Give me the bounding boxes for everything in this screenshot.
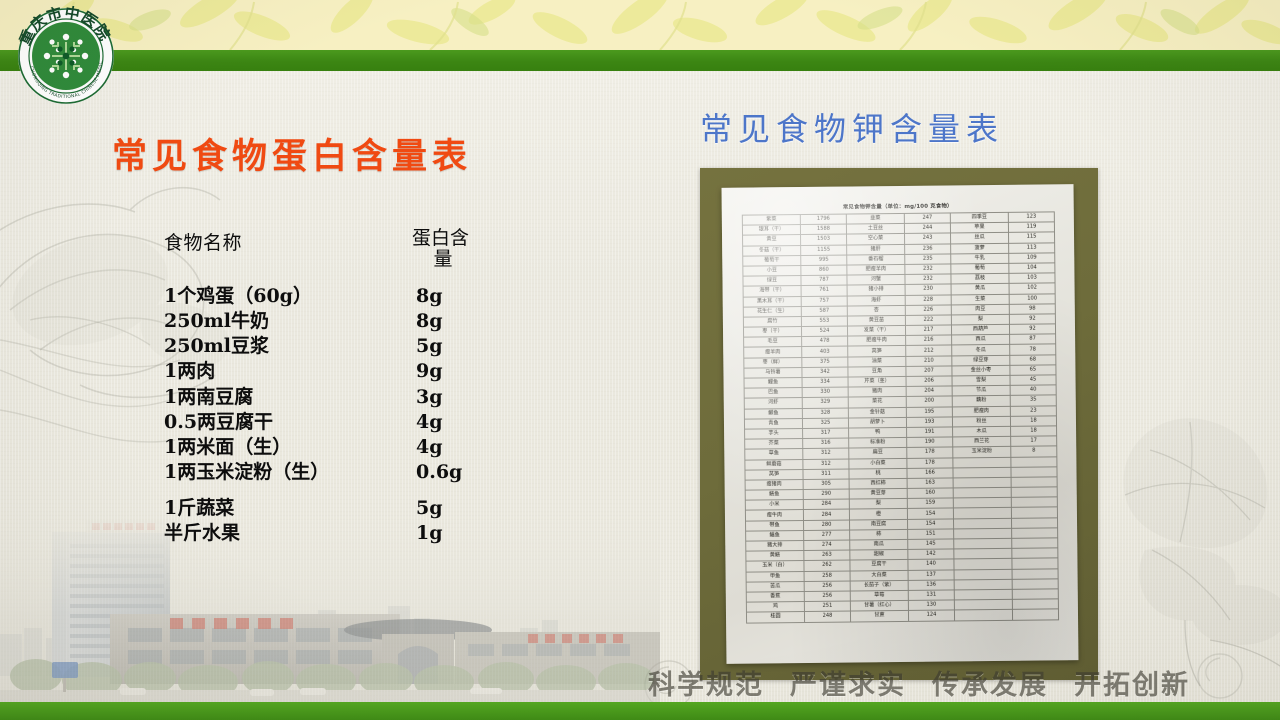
potassium-value: 119 [1008, 222, 1054, 233]
protein-row-value: 1g [416, 521, 486, 546]
potassium-value: 160 [907, 488, 953, 499]
protein-row: 1斤蔬菜5g [164, 496, 494, 521]
potassium-food-name: 草鱼 [745, 449, 803, 460]
potassium-food-name [954, 528, 1012, 539]
potassium-value: 140 [908, 559, 954, 570]
protein-row-value: 8g [416, 284, 486, 309]
potassium-value: 280 [804, 520, 850, 531]
potassium-value: 1503 [801, 234, 847, 245]
potassium-food-name: 南瓜 [850, 539, 908, 550]
potassium-value: 207 [906, 366, 952, 377]
potassium-food-name: 长茄子（紫） [850, 580, 908, 591]
potassium-food-name: 肥瘦肉 [952, 406, 1010, 417]
ink-wash-cabbage-right [1090, 390, 1280, 690]
potassium-value: 228 [905, 294, 951, 305]
potassium-value: 226 [905, 305, 951, 316]
potassium-value: 45 [1010, 375, 1056, 386]
potassium-value: 243 [905, 233, 951, 244]
potassium-value: 403 [802, 346, 848, 357]
potassium-value: 587 [801, 306, 847, 317]
potassium-value: 761 [801, 285, 847, 296]
potassium-food-name: 猪肝 [847, 244, 905, 255]
potassium-value: 191 [907, 427, 953, 438]
potassium-food-name: 绿豆 [743, 276, 801, 287]
potassium-value [1012, 548, 1058, 559]
potassium-value: 263 [804, 550, 850, 561]
potassium-food-name [953, 487, 1011, 498]
potassium-value: 232 [905, 274, 951, 285]
potassium-food-name: 玉米（白） [746, 561, 804, 572]
protein-row-value: 3g [416, 385, 486, 410]
potassium-food-name: 苹果 [950, 223, 1008, 234]
potassium-food-name [953, 467, 1011, 478]
potassium-food-name: 青鱼 [744, 418, 802, 429]
protein-row-name: 1两南豆腐 [164, 385, 416, 410]
potassium-food-name: 韭菜 [846, 213, 904, 224]
potassium-value: 195 [906, 407, 952, 418]
protein-row-name: 1两米面（生） [164, 435, 416, 460]
protein-row: 1两肉9g [164, 359, 494, 384]
slide-header [0, 0, 1280, 50]
potassium-value: 258 [804, 571, 850, 582]
potassium-food-name: 瘦牛肉 [745, 510, 803, 521]
potassium-food-name: 甘薯（红心） [850, 601, 908, 612]
potassium-value: 193 [906, 417, 952, 428]
potassium-food-name: 枣（干） [743, 327, 801, 338]
chongqing-tcm-hospital-logo-icon: 重庆市中医院 CHONGQING TRADITIONAL CHINESE MED… [14, 6, 118, 106]
protein-row: 1个鸡蛋（60g）8g [164, 284, 494, 309]
protein-row-name: 1两肉 [164, 359, 416, 384]
potassium-food-name: 毛豆 [744, 337, 802, 348]
potassium-food-name: 南豆腐 [849, 519, 907, 530]
potassium-value: 334 [802, 377, 848, 388]
potassium-food-name: 胡萝卜 [848, 417, 906, 428]
potassium-value: 142 [908, 549, 954, 560]
protein-row: 1两玉米淀粉（生）0.6g [164, 460, 494, 485]
potassium-food-name [954, 549, 1012, 560]
potassium-value: 222 [905, 315, 951, 326]
potassium-value [1011, 456, 1057, 467]
potassium-value: 274 [804, 540, 850, 551]
potassium-food-name: 甘蔗 [850, 611, 908, 622]
potassium-food-name: 紫菜 [742, 215, 800, 226]
potassium-food-name: 瘦猪肉 [745, 479, 803, 490]
potassium-value: 145 [908, 539, 954, 550]
potassium-food-name: 番石榴 [847, 254, 905, 265]
potassium-food-name: 芋头 [745, 428, 803, 439]
potassium-food-name: 鸭 [849, 427, 907, 438]
potassium-value: 78 [1010, 344, 1056, 355]
potassium-food-name [953, 457, 1011, 468]
potassium-food-name: 柿 [850, 529, 908, 540]
potassium-value: 68 [1010, 354, 1056, 365]
potassium-sheet-title: 常见食物钾含量（单位：mg/100 克食物） [722, 200, 1074, 212]
protein-row-value: 9g [416, 359, 486, 384]
protein-row: 1两米面（生）4g [164, 435, 494, 460]
potassium-value: 178 [907, 447, 953, 458]
potassium-food-name: 海虾 [847, 295, 905, 306]
potassium-value: 212 [906, 345, 952, 356]
potassium-food-name: 桃 [849, 468, 907, 479]
potassium-value: 305 [803, 479, 849, 490]
potassium-food-name: 黑木耳（干） [743, 296, 801, 307]
potassium-value: 23 [1010, 405, 1056, 416]
potassium-food-name: 小米 [745, 500, 803, 511]
potassium-value [1011, 517, 1057, 528]
potassium-food-name: 豆腐干 [850, 560, 908, 571]
potassium-value [1011, 497, 1057, 508]
potassium-food-name: 雪梨 [952, 375, 1010, 386]
potassium-value [1011, 477, 1057, 488]
potassium-food-name: 瘦羊肉 [744, 347, 802, 358]
potassium-value: 154 [907, 508, 953, 519]
potassium-food-name: 鸡 [746, 602, 804, 613]
potassium-value: 328 [802, 408, 848, 419]
green-footer-band [0, 702, 1280, 720]
potassium-value: 104 [1009, 263, 1055, 274]
potassium-value: 40 [1010, 385, 1056, 396]
potassium-value [1011, 487, 1057, 498]
potassium-value: 256 [804, 581, 850, 592]
potassium-value: 154 [907, 519, 953, 530]
potassium-value [1012, 538, 1058, 549]
potassium-food-name: 扁豆 [849, 448, 907, 459]
potassium-food-name: 花生仁（生） [743, 306, 801, 317]
potassium-value: 787 [801, 275, 847, 286]
potassium-food-name: 冬瓜 [952, 345, 1010, 356]
potassium-food-name: 肥瘦牛肉 [848, 336, 906, 347]
potassium-value: 200 [906, 396, 952, 407]
potassium-value: 206 [906, 376, 952, 387]
potassium-food-name: 梨 [951, 314, 1009, 325]
potassium-food-name: 银耳（干） [742, 225, 800, 236]
potassium-value: 18 [1011, 426, 1057, 437]
potassium-value: 284 [803, 509, 849, 520]
potassium-food-name: 生菜 [951, 294, 1009, 305]
potassium-food-name: 节瓜 [952, 386, 1010, 397]
potassium-food-name: 桂圆 [746, 612, 804, 623]
potassium-food-name: 黄瓜 [951, 284, 1009, 295]
potassium-value: 316 [803, 438, 849, 449]
potassium-value: 115 [1009, 232, 1055, 243]
potassium-value: 317 [803, 428, 849, 439]
potassium-value: 248 [804, 611, 850, 622]
potassium-food-name: 猪肉 [848, 387, 906, 398]
potassium-food-name: 芹菜（茎） [848, 376, 906, 387]
potassium-food-name: 藕粉 [952, 396, 1010, 407]
potassium-food-name: 牛乳 [951, 253, 1009, 264]
potassium-value: 204 [906, 386, 952, 397]
potassium-value: 178 [907, 457, 953, 468]
potassium-value: 100 [1009, 293, 1055, 304]
potassium-food-name: 黄豆苗 [847, 315, 905, 326]
potassium-value [1012, 579, 1058, 590]
potassium-value: 312 [803, 448, 849, 459]
potassium-food-name: 莴笋 [745, 469, 803, 480]
potassium-value: 290 [803, 489, 849, 500]
protein-table: 食物名称 蛋白含 量 1个鸡蛋（60g）8g250ml牛奶8g250ml豆浆5g… [164, 228, 494, 546]
potassium-value: 166 [907, 468, 953, 479]
protein-row-name: 250ml豆浆 [164, 334, 416, 359]
protein-row-value: 5g [416, 496, 486, 521]
potassium-value: 375 [802, 357, 848, 368]
protein-row-name: 1斤蔬菜 [164, 496, 416, 521]
potassium-food-name: 鳝鱼 [745, 490, 803, 501]
potassium-value: 312 [803, 459, 849, 470]
protein-row: 1两南豆腐3g [164, 385, 494, 410]
potassium-value: 124 [908, 610, 954, 621]
potassium-value: 524 [801, 326, 847, 337]
protein-table-header: 食物名称 蛋白含 量 [164, 228, 494, 271]
potassium-food-name: 标准粉 [849, 438, 907, 449]
protein-row-name: 1两玉米淀粉（生） [164, 460, 416, 485]
potassium-food-name: 香蕉 [746, 591, 804, 602]
potassium-value: 1155 [801, 245, 847, 256]
potassium-value: 284 [803, 499, 849, 510]
table-row: 桂圆248甘蔗124 [746, 609, 1058, 622]
potassium-value: 190 [907, 437, 953, 448]
potassium-food-name: 鲤鱼 [744, 378, 802, 389]
potassium-food-name: 草莓 [850, 590, 908, 601]
potassium-value: 18 [1010, 416, 1056, 427]
potassium-food-name: 菜花 [848, 397, 906, 408]
potassium-food-name [953, 477, 1011, 488]
potassium-food-name: 豆角 [848, 366, 906, 377]
potassium-food-name: 葡萄 [951, 263, 1009, 274]
footer-slogan: 科学规范严谨求实传承发展开拓创新 [648, 660, 1280, 704]
potassium-value: 330 [802, 387, 848, 398]
potassium-food-name: 小豆 [743, 265, 801, 276]
protein-col-value-header-line2: 量 [412, 249, 474, 270]
potassium-value [1012, 609, 1058, 620]
potassium-value [1011, 507, 1057, 518]
potassium-food-name: 马铃薯 [744, 367, 802, 378]
potassium-food-name: 金针菇 [848, 407, 906, 418]
protein-row-value: 0.6g [416, 460, 486, 485]
potassium-table-photograph: 常见食物钾含量（单位：mg/100 克食物） 紫菜1796韭菜247四季豆123… [700, 168, 1098, 680]
potassium-food-name [954, 559, 1012, 570]
protein-col-name-header: 食物名称 [164, 228, 404, 255]
potassium-value: 109 [1009, 253, 1055, 264]
potassium-food-name [954, 538, 1012, 549]
protein-row-value: 4g [416, 410, 486, 435]
leaf-pattern-decoration [0, 0, 1280, 50]
potassium-food-name [954, 589, 1012, 600]
potassium-value: 230 [905, 284, 951, 295]
potassium-value: 277 [804, 530, 850, 541]
potassium-value: 216 [906, 335, 952, 346]
potassium-food-name: 肉豆 [951, 304, 1009, 315]
potassium-value: 210 [906, 356, 952, 367]
potassium-value [1011, 467, 1057, 478]
potassium-food-name: 木瓜 [953, 426, 1011, 437]
potassium-value: 1588 [800, 224, 846, 235]
potassium-food-name: 西红柿 [849, 478, 907, 489]
potassium-food-name: 空心菜 [847, 234, 905, 245]
potassium-food-name: 枣（鲜） [744, 357, 802, 368]
potassium-value: 163 [907, 478, 953, 489]
potassium-value: 92 [1009, 324, 1055, 335]
photographed-paper-sheet: 常见食物钾含量（单位：mg/100 克食物） 紫菜1796韭菜247四季豆123… [722, 184, 1079, 664]
potassium-value [1012, 528, 1058, 539]
potassium-value: 103 [1009, 273, 1055, 284]
protein-row: 0.5两豆腐干4g [164, 410, 494, 435]
potassium-value: 151 [908, 529, 954, 540]
potassium-food-name: 西兰花 [953, 436, 1011, 447]
potassium-food-name: 带鱼 [746, 520, 804, 531]
potassium-value: 17 [1011, 436, 1057, 447]
potassium-food-name: 小白菜 [849, 458, 907, 469]
footer-slogan-part: 开拓创新 [1074, 663, 1190, 702]
potassium-value: 98 [1009, 304, 1055, 315]
potassium-value: 130 [908, 600, 954, 611]
potassium-value [1012, 568, 1058, 579]
protein-row-name: 半斤水果 [164, 521, 416, 546]
potassium-food-name: 甜椒 [850, 550, 908, 561]
potassium-value: 65 [1010, 365, 1056, 376]
potassium-value [1012, 558, 1058, 569]
potassium-value: 256 [804, 591, 850, 602]
potassium-food-name: 橙 [849, 509, 907, 520]
potassium-food-name: 芥菜 [745, 439, 803, 450]
protein-row-value: 4g [416, 435, 486, 460]
potassium-value [1012, 599, 1058, 610]
potassium-food-name: 粉丝 [952, 416, 1010, 427]
footer-slogan-part: 科学规范 [648, 663, 764, 702]
potassium-value: 131 [908, 590, 954, 601]
potassium-food-name: 梨 [849, 499, 907, 510]
potassium-food-name: 苦瓜 [746, 581, 804, 592]
potassium-value: 757 [801, 296, 847, 307]
potassium-value: 244 [904, 223, 950, 234]
potassium-food-name: 葡萄干 [743, 255, 801, 266]
potassium-food-name: 荔枝 [951, 273, 1009, 284]
potassium-food-name: 鲜蘑菇 [745, 459, 803, 470]
potassium-value: 137 [908, 570, 954, 581]
potassium-value: 236 [905, 244, 951, 255]
potassium-value: 325 [802, 418, 848, 429]
potassium-value: 35 [1010, 395, 1056, 406]
potassium-value: 995 [801, 255, 847, 266]
potassium-value: 113 [1009, 242, 1055, 253]
potassium-food-name: 海带（干） [743, 286, 801, 297]
protein-row: 250ml牛奶8g [164, 309, 494, 334]
potassium-food-name: 河虾 [744, 398, 802, 409]
potassium-food-name [953, 518, 1011, 529]
potassium-food-name: 肥瘦羊肉 [847, 264, 905, 275]
potassium-food-name: 菠萝 [951, 243, 1009, 254]
potassium-value: 251 [804, 601, 850, 612]
potassium-table-grid: 紫菜1796韭菜247四季豆123银耳（干）1588土豆丝244苹果119黄豆1… [742, 211, 1059, 623]
potassium-food-name: 猪大排 [746, 541, 804, 552]
potassium-food-name: 大白菜 [850, 570, 908, 581]
potassium-food-name: 杏 [847, 305, 905, 316]
potassium-food-name: 绿豆芽 [952, 355, 1010, 366]
potassium-food-name [954, 599, 1012, 610]
potassium-value: 329 [802, 397, 848, 408]
potassium-food-name: 莴笋 [848, 346, 906, 357]
potassium-food-name [954, 610, 1012, 621]
potassium-food-name [953, 498, 1011, 509]
potassium-value: 159 [907, 498, 953, 509]
potassium-food-name: 黄豆 [743, 235, 801, 246]
potassium-value: 342 [802, 367, 848, 378]
potassium-value: 123 [1008, 212, 1054, 223]
potassium-food-name: 发菜（干） [847, 325, 905, 336]
potassium-value: 553 [801, 316, 847, 327]
potassium-food-name: 西葫芦 [951, 324, 1009, 335]
potassium-food-name: 黄豆芽 [849, 488, 907, 499]
protein-row-name: 0.5两豆腐干 [164, 410, 416, 435]
potassium-food-name: 河蟹 [847, 275, 905, 286]
potassium-value: 235 [905, 254, 951, 265]
potassium-value: 217 [905, 325, 951, 336]
footer-slogan-part: 严谨求实 [790, 663, 906, 702]
potassium-food-name: 鲫鱼 [744, 408, 802, 419]
protein-col-value-header-line1: 蛋白含 [412, 228, 492, 249]
potassium-food-name [954, 569, 1012, 580]
potassium-food-name: 土豆丝 [846, 224, 904, 235]
potassium-value: 8 [1011, 446, 1057, 457]
potassium-table-title: 常见食物钾含量表 [700, 104, 1004, 150]
footer-slogan-part: 传承发展 [932, 663, 1048, 702]
potassium-value: 311 [803, 469, 849, 480]
protein-row-value: 8g [416, 309, 486, 334]
green-header-band [0, 50, 1280, 71]
potassium-food-name [954, 579, 1012, 590]
potassium-food-name: 巴鱼 [744, 388, 802, 399]
potassium-value: 92 [1009, 314, 1055, 325]
potassium-food-name: 冬菇（干） [743, 245, 801, 256]
potassium-food-name: 油菜 [848, 356, 906, 367]
potassium-value: 1796 [800, 214, 846, 225]
potassium-value: 478 [802, 336, 848, 347]
potassium-food-name: 西瓜 [952, 335, 1010, 346]
protein-row-value: 5g [416, 334, 486, 359]
protein-table-title: 常见食物蛋白含量表 [112, 128, 472, 179]
potassium-food-name: 鲳鱼 [746, 530, 804, 541]
slide-canvas: 重庆市中医院 CHONGQING TRADITIONAL CHINESE MED… [0, 0, 1280, 720]
potassium-value: 136 [908, 580, 954, 591]
potassium-value [1012, 589, 1058, 600]
potassium-value: 262 [804, 560, 850, 571]
potassium-value: 232 [905, 264, 951, 275]
potassium-value: 87 [1010, 334, 1056, 345]
potassium-food-name: 金丝小枣 [952, 365, 1010, 376]
potassium-value: 860 [801, 265, 847, 276]
potassium-food-name: 猪小排 [847, 285, 905, 296]
protein-row-name: 1个鸡蛋（60g） [164, 284, 416, 309]
potassium-food-name: 丝瓜 [951, 233, 1009, 244]
protein-row-name: 250ml牛奶 [164, 309, 416, 334]
potassium-value: 247 [904, 213, 950, 224]
potassium-food-name: 腐竹 [743, 316, 801, 327]
potassium-food-name: 黄鳝 [746, 551, 804, 562]
potassium-food-name: 甲鱼 [746, 571, 804, 582]
potassium-food-name: 玉米淀粉 [953, 447, 1011, 458]
potassium-value: 102 [1009, 283, 1055, 294]
potassium-food-name: 四季豆 [950, 212, 1008, 223]
protein-row: 250ml豆浆5g [164, 334, 494, 359]
protein-row: 半斤水果1g [164, 521, 494, 546]
potassium-food-name [953, 508, 1011, 519]
